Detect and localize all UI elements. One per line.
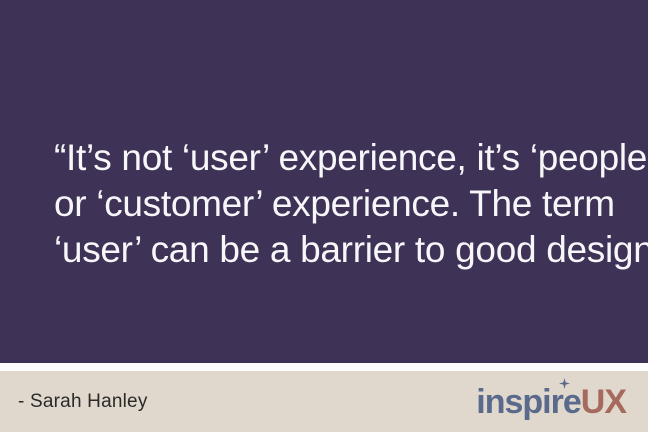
inspireux-logo[interactable]: inspire UX (476, 385, 626, 419)
logo-word-inspire: inspire (476, 385, 580, 419)
attribution-text: - Sarah Hanley (18, 391, 148, 413)
quote-line-3: ‘user’ can be a barrier to good design.” (54, 227, 648, 273)
quote-line-2: or ‘customer’ experience. The term (54, 181, 648, 227)
logo-inspire-text: inspire (476, 383, 580, 421)
quote-panel: “It’s not ‘user’ experience, it’s ‘peopl… (0, 0, 648, 363)
footer-bar: - Sarah Hanley inspire UX (0, 371, 648, 432)
logo-word-ux: UX (581, 385, 626, 419)
quote-line-1: “It’s not ‘user’ experience, it’s ‘peopl… (54, 135, 648, 181)
quote-text: “It’s not ‘user’ experience, it’s ‘peopl… (54, 135, 648, 273)
quote-card: “It’s not ‘user’ experience, it’s ‘peopl… (0, 0, 648, 432)
divider (0, 363, 648, 371)
